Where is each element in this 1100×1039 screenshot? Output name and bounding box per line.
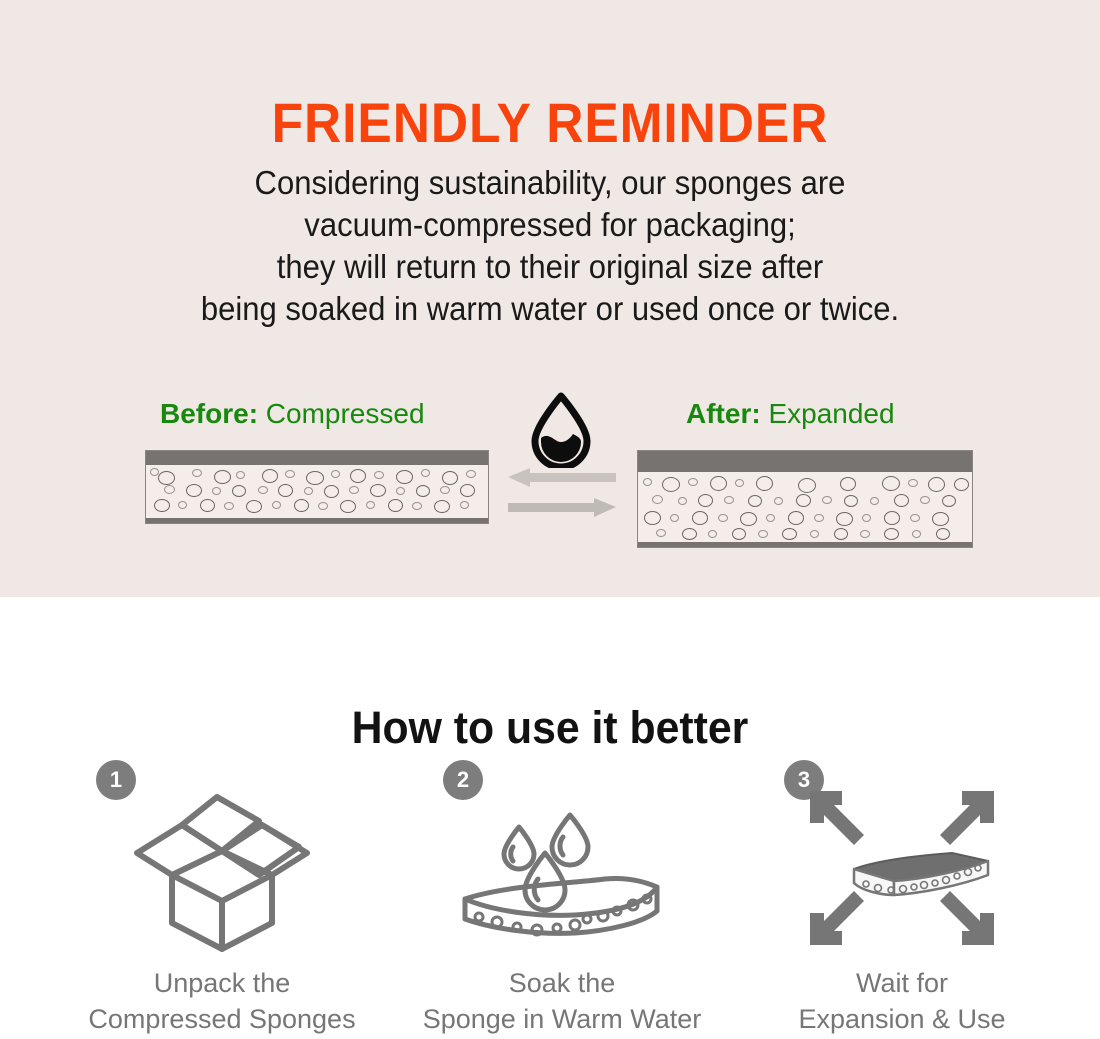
step-1: 1 [52,757,392,1027]
friendly-reminder-section: FRIENDLY REMINDER Considering sustainabi… [0,0,1100,597]
step-caption: Unpack the Compressed Sponges [52,965,392,1037]
open-box-icon [127,783,317,953]
caption-line: Soak the [392,965,732,1001]
caption-line: Expansion & Use [732,1001,1072,1037]
page-title: FRIENDLY REMINDER [44,90,1056,155]
body-line: vacuum-compressed for packaging; [33,204,1067,246]
expanded-sponge-image [637,450,973,548]
infographic-page: FRIENDLY REMINDER Considering sustainabi… [0,0,1100,1039]
compressed-sponge-image [145,450,489,524]
body-line: they will return to their original size … [33,246,1067,288]
body-line: being soaked in warm water or used once … [33,288,1067,330]
before-label-rest: Compressed [258,398,425,429]
before-label-strong: Before: [160,398,258,429]
sponge-top-band [638,451,972,472]
caption-line: Unpack the [52,965,392,1001]
step-caption: Wait for Expansion & Use [732,965,1072,1037]
expanding-arrows-sponge-icon [802,783,1002,953]
water-drops-on-sponge-icon [457,783,667,953]
two-way-exchange-arrows-icon [508,468,616,520]
caption-line: Sponge in Warm Water [392,1001,732,1037]
sponge-bottom-band [146,518,488,523]
caption-line: Wait for [732,965,1072,1001]
caption-line: Compressed Sponges [52,1001,392,1037]
howto-title: How to use it better [28,702,1073,754]
step-3: 3 [732,757,1072,1027]
before-label: Before: Compressed [160,398,425,430]
body-line: Considering sustainability, our sponges … [33,162,1067,204]
step-caption: Soak the Sponge in Warm Water [392,965,732,1037]
reminder-body-text: Considering sustainability, our sponges … [33,162,1067,330]
sponge-top-band [146,451,488,465]
sponge-bottom-band [638,542,972,547]
after-label-rest: Expanded [761,398,895,429]
how-to-use-section: How to use it better 1 [0,597,1100,1039]
after-label-strong: After: [686,398,761,429]
after-label: After: Expanded [686,398,895,430]
step-2: 2 [392,757,732,1027]
water-drop-icon [527,392,595,468]
